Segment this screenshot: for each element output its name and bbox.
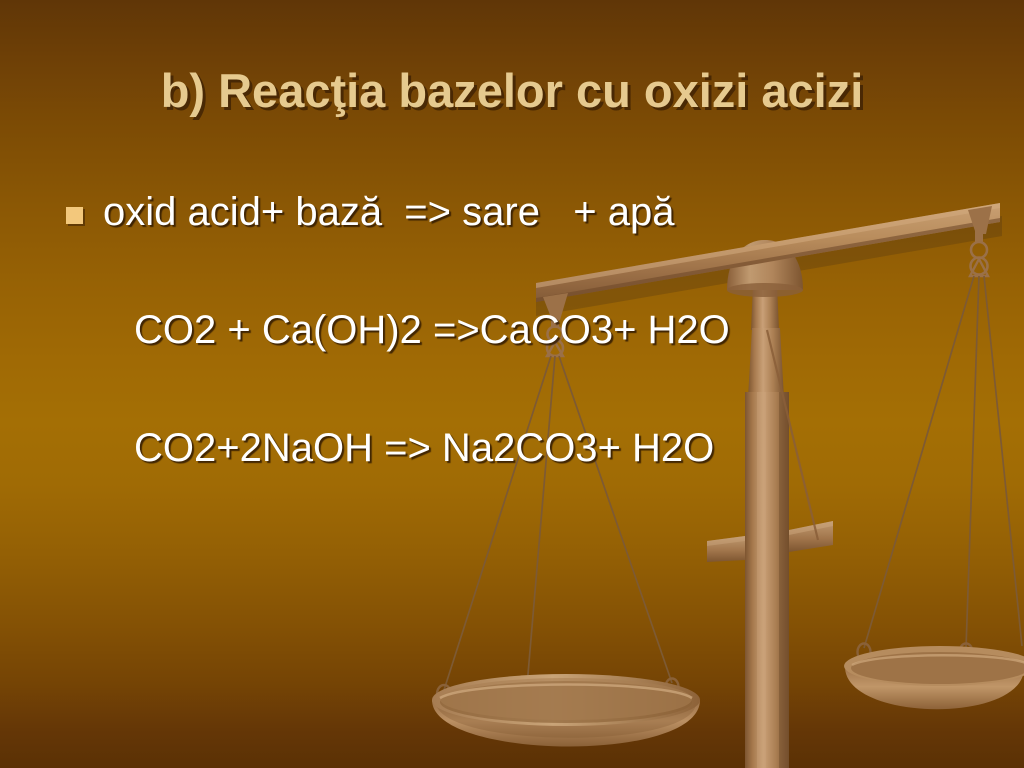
chemical-equation-1: CO2 + Ca(OH)2 =>CaCO3+ H2O xyxy=(134,308,730,352)
square-bullet-icon xyxy=(66,207,83,224)
slide-canvas: b) Reacţia bazelor cu oxizi acizi oxid a… xyxy=(0,0,1024,768)
equation-row-2: CO2+2NaOH => Na2CO3+ H2O xyxy=(66,422,966,474)
chemical-equation-2: CO2+2NaOH => Na2CO3+ H2O xyxy=(134,426,714,470)
equation-row-1: CO2 + Ca(OH)2 =>CaCO3+ H2O xyxy=(66,304,966,356)
slide-text-layer: b) Reacţia bazelor cu oxizi acizi oxid a… xyxy=(0,0,1024,768)
page-title: b) Reacţia bazelor cu oxizi acizi xyxy=(0,63,1024,118)
bullet-list-item: oxid acid+ bază => sare + apă xyxy=(66,186,966,238)
content-body: oxid acid+ bază => sare + apă CO2 + Ca(O… xyxy=(66,186,966,474)
bullet-item-label: oxid acid+ bază => sare + apă xyxy=(103,186,675,238)
